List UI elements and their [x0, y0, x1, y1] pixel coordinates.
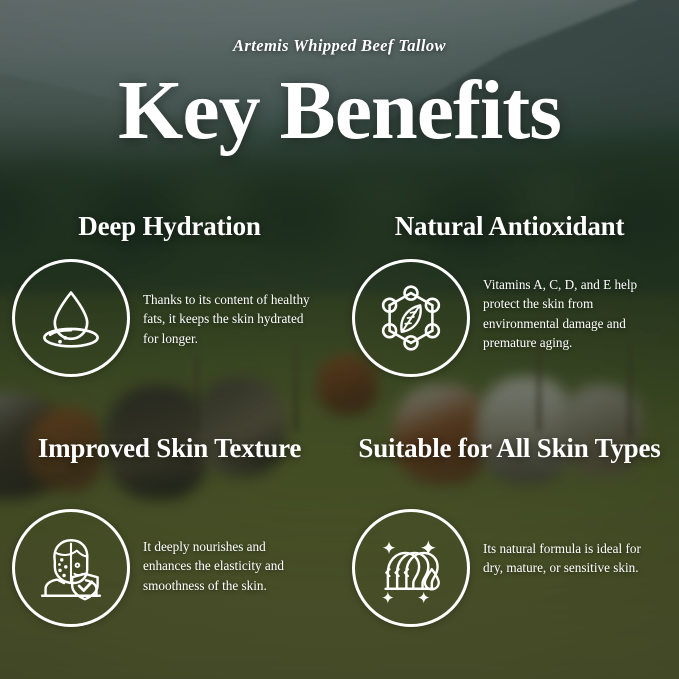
key-benefits-poster: Artemis Whipped Beef Tallow Key Benefits… [0, 0, 679, 679]
benefit-description: Thanks to its content of healthy fats, i… [143, 290, 311, 348]
benefit-title: Deep Hydration [0, 211, 339, 241]
page-title: Key Benefits [0, 68, 679, 154]
benefit-card-suitable-all-skin-types: Suitable for All Skin Types [340, 425, 679, 663]
brand-eyebrow: Artemis Whipped Beef Tallow [0, 36, 679, 56]
benefit-icon-frame [352, 259, 470, 377]
benefit-card-deep-hydration: Deep Hydration Thanks to its content of … [0, 203, 339, 441]
benefit-title: Improved Skin Texture [0, 433, 339, 463]
molecule-leaf-icon [374, 281, 448, 355]
water-drop-ripple-icon [34, 281, 108, 355]
face-shield-check-icon [34, 531, 108, 605]
benefit-icon-frame [352, 509, 470, 627]
benefit-title: Suitable for All Skin Types [340, 433, 679, 463]
benefit-description: Its natural formula is ideal for dry, ma… [483, 539, 651, 578]
benefits-grid: Deep Hydration Thanks to its content of … [0, 203, 679, 679]
benefit-description: Vitamins A, C, D, and E help protect the… [483, 275, 651, 353]
benefit-card-improved-skin-texture: Improved Skin Texture [0, 425, 339, 663]
benefit-description: It deeply nourishes and enhances the ela… [143, 537, 311, 595]
benefit-icon-frame [12, 259, 130, 377]
benefit-card-natural-antioxidant: Natural Antioxidant [340, 203, 679, 441]
benefit-title: Natural Antioxidant [340, 211, 679, 241]
poster-content: Artemis Whipped Beef Tallow Key Benefits… [0, 0, 679, 679]
three-faces-droplet-sparkle-icon [374, 531, 448, 605]
benefit-icon-frame [12, 509, 130, 627]
